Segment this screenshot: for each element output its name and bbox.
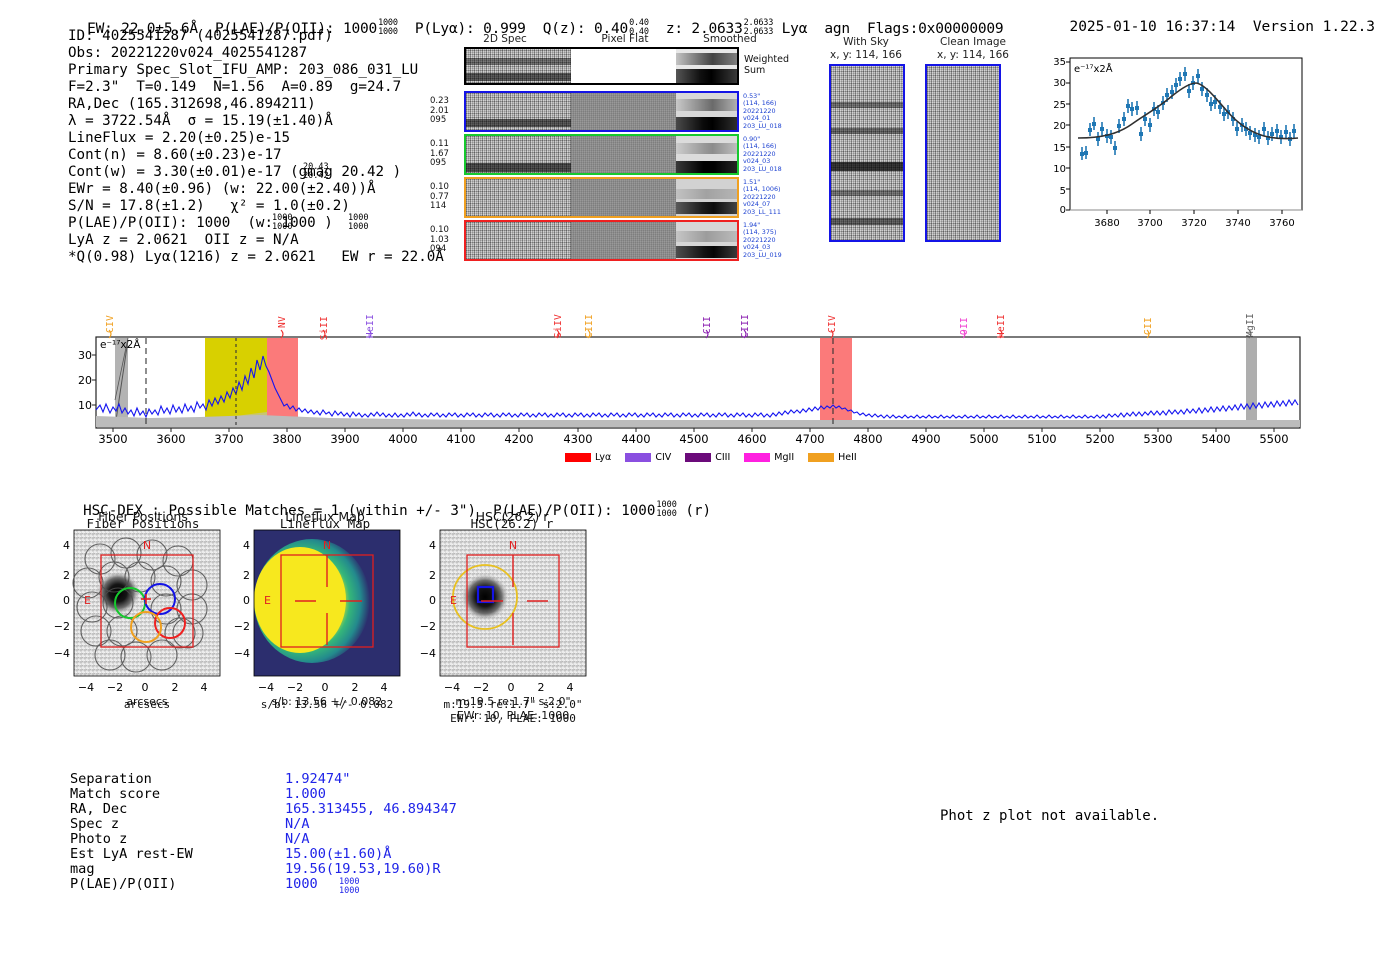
svg-text:4000: 4000 [388, 432, 417, 446]
legend-swatch-heii [808, 453, 834, 462]
spec-row-3 [464, 177, 739, 218]
svg-text:−4: −4 [258, 681, 274, 694]
row3-smoothed-image [676, 179, 737, 216]
info-gmag-fraction: 20.4320.42 [303, 163, 329, 180]
svg-text:E: E [450, 594, 457, 607]
source-info-block: ID: 4025541287 (4025541287.pdf) Obs: 202… [68, 28, 444, 266]
info-plae-fraction: 10001000 [272, 214, 292, 231]
full-spectrum-svg: 30 20 10 e⁻¹⁷x2Å 35003600 37003800 39004… [0, 300, 1400, 475]
svg-text:3740: 3740 [1225, 218, 1250, 229]
svg-text:e⁻¹⁷x2Å: e⁻¹⁷x2Å [1074, 62, 1113, 75]
cleanimage-subtitle: x, y: 114, 166 [923, 49, 1023, 61]
svg-text:0: 0 [429, 594, 436, 607]
svg-text:2: 2 [172, 681, 179, 694]
legend-swatch-lya [565, 453, 591, 462]
svg-text:N: N [323, 539, 331, 552]
svg-text:−2: −2 [234, 620, 250, 633]
svg-text:−4: −4 [54, 647, 70, 660]
svg-text:−4: −4 [234, 647, 250, 660]
svg-text:N: N [143, 539, 151, 552]
svg-text:35: 35 [1053, 57, 1066, 68]
svg-text:2: 2 [352, 681, 359, 694]
row4-smoothed-image [676, 222, 737, 259]
svg-text:4: 4 [201, 681, 208, 694]
svg-text:0: 0 [1060, 205, 1066, 216]
info-cont-n: Cont(n) = 8.60(±0.23)e-17 [68, 147, 444, 164]
row1-pixelflat-image [571, 93, 676, 130]
svg-text:30: 30 [78, 349, 92, 362]
svg-text:0: 0 [243, 594, 250, 607]
legend-swatch-ciii [685, 453, 711, 462]
svg-text:3500: 3500 [98, 432, 127, 446]
weighted-sum-row [464, 47, 739, 85]
svg-text:5200: 5200 [1085, 432, 1114, 446]
withsky-title: With Sky [818, 36, 914, 48]
line-label-siiv: SiIV [553, 314, 564, 338]
line-label-civ-blue: CIV [105, 315, 116, 333]
spec-row-1 [464, 91, 739, 132]
row1-smoothed-image [676, 93, 737, 130]
svg-text:4100: 4100 [446, 432, 475, 446]
photoz-message: Phot z plot not available. [940, 808, 1159, 824]
line-label-heii-1: HeII [365, 314, 376, 338]
svg-text:0: 0 [63, 594, 70, 607]
svg-text:−4: −4 [78, 681, 94, 694]
svg-text:2: 2 [63, 569, 70, 582]
row-radec-value: 165.313455, 46.894347 [285, 802, 457, 817]
svg-text:E: E [84, 594, 91, 607]
line-label-ciii-1: CIII [584, 314, 595, 338]
row2-left-labels: 0.11 1.67 095 [430, 140, 449, 169]
hsc-dex-suffix: (r) [685, 503, 711, 519]
row1-right-labels: 0.53" (114, 166) 20221220 v024_01 203_LU… [743, 93, 782, 130]
line-label-civ: CIV [827, 315, 838, 333]
row4-pixelflat-image [571, 222, 676, 259]
full-spectrum-panel: 30 20 10 e⁻¹⁷x2Å 35003600 37003800 39004… [0, 300, 1400, 475]
legend-swatch-mgii [744, 453, 770, 462]
row1-left-labels: 0.23 2.01 095 [430, 97, 449, 126]
svg-text:10: 10 [78, 399, 92, 412]
info-lineflux: LineFlux = 2.20(±0.25)e-15 [68, 130, 444, 147]
svg-text:N: N [509, 539, 517, 552]
svg-text:5100: 5100 [1027, 432, 1056, 446]
header-timestamp: 2025-01-10 16:37:14 [1069, 19, 1235, 35]
svg-text:4: 4 [381, 681, 388, 694]
line-label-nv: NV [277, 316, 288, 328]
fiber-panel-title: Fiber Positions [43, 516, 243, 531]
svg-text:4900: 4900 [911, 432, 940, 446]
row2-right-labels: 0.90" (114, 166) 20221220 v024_03 203_LU… [743, 136, 782, 173]
info-obs: Obs: 20221220v024_4025541287 [68, 45, 444, 62]
svg-text:3680: 3680 [1094, 218, 1119, 229]
line-label-siii: SiII [319, 316, 330, 340]
hsc-panel-title: HSC(26.2) r [412, 516, 612, 531]
svg-text:4: 4 [567, 681, 574, 694]
withsky-image [829, 64, 905, 242]
svg-text:0: 0 [142, 681, 149, 694]
line-label-cii-1: CII [702, 316, 713, 334]
svg-text:5500: 5500 [1259, 432, 1288, 446]
svg-text:4: 4 [429, 539, 436, 552]
spec-row-4 [464, 220, 739, 261]
legend-item-lya: Lyα [565, 452, 611, 463]
svg-text:3720: 3720 [1181, 218, 1206, 229]
svg-text:3900: 3900 [330, 432, 359, 446]
header-flags: Flags:0x00000009 [867, 21, 1003, 37]
row3-left-labels: 0.10 0.77 114 [430, 183, 449, 212]
header-version: Version 1.22.3 [1253, 19, 1375, 35]
svg-text:10: 10 [1053, 164, 1066, 175]
header-meta: 2025-01-10 16:37:14 Version 1.22.3 [1052, 3, 1375, 35]
ws-pixelflat-image [571, 49, 676, 83]
row4-2dspec-image [466, 222, 571, 259]
row4-right-labels: 1.94" (114, 375) 20221220 v024_03 203_LU… [743, 222, 782, 259]
svg-text:4: 4 [63, 539, 70, 552]
legend-item-ciii: CIII [685, 452, 730, 463]
line-label-ciii-2: CIII [740, 314, 751, 338]
svg-text:30: 30 [1053, 78, 1066, 89]
svg-text:2: 2 [429, 569, 436, 582]
row4-left-labels: 0.10 1.03 094 [430, 226, 449, 255]
line-label-heii-2: HeII [996, 314, 1007, 338]
row2-pixelflat-image [571, 136, 676, 173]
info-plae: P(LAE)/P(OII): 1000 (w: 1000 ) [68, 215, 444, 232]
legend-item-civ: CIV [625, 452, 671, 463]
info-ewr: EWr = 8.40(±0.96) (w: 22.00(±2.40))Å [68, 181, 444, 198]
hsc-panel-xlabel: m:19.5 re:1.7" s:2.0" [413, 698, 613, 711]
cleanimage-image [925, 64, 1001, 242]
svg-text:4800: 4800 [853, 432, 882, 446]
info-cont-w: Cont(w) = 3.30(±0.01)e-17 (gmag 20.42 ) [68, 164, 444, 181]
line-label-mgii: MgII [1245, 313, 1256, 337]
info-redshifts: LyA z = 2.0621 OII z = N/A [68, 232, 444, 249]
svg-text:5300: 5300 [1143, 432, 1172, 446]
svg-text:−2: −2 [473, 681, 489, 694]
header-class: Lyα [782, 21, 808, 37]
info-id: ID: 4025541287 (4025541287.pdf) [68, 28, 444, 45]
line-zoom-chart: 35 30 25 20 15 10 5 0 36803700 37203740 … [1032, 54, 1308, 242]
svg-text:4300: 4300 [563, 432, 592, 446]
row2-smoothed-image [676, 136, 737, 173]
row-plae-key: P(LAE)/P(OII) [70, 877, 176, 892]
line-zoom-svg: 35 30 25 20 15 10 5 0 36803700 37203740 … [1032, 54, 1308, 242]
lineflux-panel-xlabel: s/b: 13.56 +/- 0.082 [227, 698, 427, 711]
twod-spectra-panel: 2D Spec Pixel Flat Smoothed Weighted Sum… [430, 33, 770, 261]
hsc-panel-caption2: EWr: 10, PLAE: 1000 [413, 712, 613, 725]
cleanimage-title: Clean Image [923, 36, 1023, 48]
svg-text:−4: −4 [444, 681, 460, 694]
svg-text:3760: 3760 [1269, 218, 1294, 229]
info-classification: *Q(0.98) Lyα(1216) z = 2.0621 EW r = 22.… [68, 249, 444, 266]
svg-text:5: 5 [1060, 186, 1066, 197]
svg-text:−2: −2 [420, 620, 436, 633]
svg-text:4200: 4200 [504, 432, 533, 446]
svg-text:4: 4 [243, 539, 250, 552]
svg-text:−4: −4 [420, 647, 436, 660]
row-plae-fraction: 10001000 [339, 878, 359, 895]
col-header-smoothed: Smoothed [680, 33, 780, 45]
ws-smoothed-image [676, 49, 737, 83]
svg-text:3800: 3800 [272, 432, 301, 446]
col-header-2dspec: 2D Spec [450, 33, 560, 45]
svg-text:5000: 5000 [969, 432, 998, 446]
row3-pixelflat-image [571, 179, 676, 216]
svg-text:e⁻¹⁷x2Å: e⁻¹⁷x2Å [100, 338, 141, 351]
svg-text:0: 0 [508, 681, 515, 694]
svg-text:4700: 4700 [795, 432, 824, 446]
info-cont-w-text: Cont(w) = 3.30(±0.01)e-17 (gmag 20.42 ) [68, 164, 401, 180]
svg-text:4500: 4500 [679, 432, 708, 446]
svg-text:−2: −2 [54, 620, 70, 633]
svg-text:−2: −2 [107, 681, 123, 694]
spec-row-2 [464, 134, 739, 175]
info-snr: S/N = 17.8(±1.2) χ² = 1.0(±0.2) [68, 198, 444, 215]
row3-2dspec-image [466, 179, 571, 216]
svg-text:2: 2 [243, 569, 250, 582]
withsky-subtitle: x, y: 114, 166 [818, 49, 914, 61]
svg-text:2: 2 [538, 681, 545, 694]
svg-text:3600: 3600 [156, 432, 185, 446]
info-radec: RA,Dec (165.312698,46.894211) [68, 96, 444, 113]
line-label-cii-2: CII [1143, 317, 1154, 335]
svg-text:3700: 3700 [214, 432, 243, 446]
svg-text:5400: 5400 [1201, 432, 1230, 446]
fiber-panel-xlabel: arcsecs [47, 698, 247, 711]
legend-swatch-civ [625, 453, 651, 462]
row-plae-value: 1000 [285, 877, 318, 892]
svg-text:3700: 3700 [1137, 218, 1162, 229]
row3-right-labels: 1.51" (114, 1006) 20221220 v024_07 203_L… [743, 179, 781, 216]
weighted-sum-label: Weighted Sum [744, 55, 789, 76]
legend-item-mgii: MgII [744, 452, 794, 463]
legend-item-heii: HeII [808, 452, 857, 463]
svg-text:20: 20 [1053, 121, 1066, 132]
svg-text:4400: 4400 [621, 432, 650, 446]
info-primary-spec: Primary Spec_Slot_IFU_AMP: 203_086_031_L… [68, 62, 444, 79]
svg-text:4600: 4600 [737, 432, 766, 446]
header-agn: agn [824, 21, 850, 37]
svg-text:25: 25 [1053, 100, 1066, 111]
col-header-pixelflat: Pixel Flat [570, 33, 680, 45]
info-plae-w-fraction: 10001000 [348, 214, 368, 231]
lineflux-panel-title: Lineflux Map [225, 516, 425, 531]
match-table: Separation 1.92474" Match score 1.000 RA… [70, 772, 530, 896]
row2-2dspec-image [466, 136, 571, 173]
svg-text:15: 15 [1053, 143, 1066, 154]
svg-text:20: 20 [78, 374, 92, 387]
svg-text:0: 0 [322, 681, 329, 694]
spectrum-legend: LyαCIVCIIIMgIIHeII [565, 452, 871, 463]
svg-text:−2: −2 [287, 681, 303, 694]
row1-2dspec-image [466, 93, 571, 130]
info-wavelength: λ = 3722.54Å σ = 15.19(±1.40)Å [68, 113, 444, 130]
svg-text:E: E [264, 594, 271, 607]
ws-2dspec-image [466, 49, 571, 83]
line-label-oii: OII [959, 317, 970, 335]
info-seeing: F=2.3" T=0.149 N̅=1.56 A=0.89 g=24.7 [68, 79, 444, 96]
